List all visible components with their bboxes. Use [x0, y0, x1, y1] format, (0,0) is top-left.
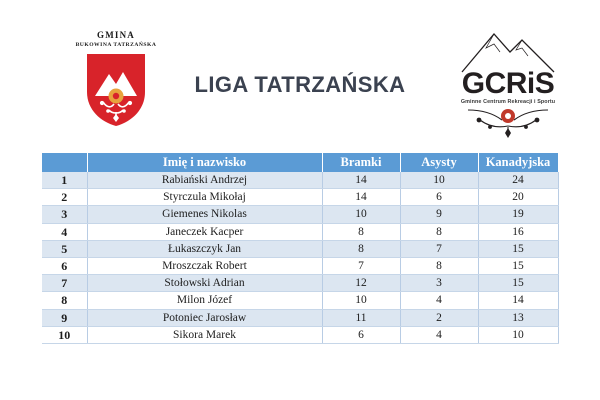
cell-assists: 10 — [400, 172, 478, 189]
cell-rank: 5 — [42, 240, 87, 257]
table-row: 10Sikora Marek6410 — [42, 326, 558, 343]
cell-assists: 2 — [400, 309, 478, 326]
cell-assists: 9 — [400, 206, 478, 223]
table-row: 7Stołowski Adrian12315 — [42, 275, 558, 292]
standings-table: Imię i nazwisko Bramki Asysty Kanadyjska… — [42, 153, 559, 344]
cell-player-name: Styrczula Mikołaj — [87, 189, 322, 206]
cell-rank: 2 — [42, 189, 87, 206]
header-banner: GMINA BUKOWINA TATRZAŃSKA — [0, 28, 600, 140]
cell-points: 10 — [478, 326, 558, 343]
table-row: 5Łukaszczyk Jan8715 — [42, 240, 558, 257]
gcris-wordmark: GCRiS — [446, 68, 570, 100]
standings-table-container: Imię i nazwisko Bramki Asysty Kanadyjska… — [42, 153, 558, 344]
cell-goals: 12 — [322, 275, 400, 292]
gcris-logo: GCRiS Gminne Centrum Rekreacji i Sportu — [446, 28, 570, 140]
cell-goals: 6 — [322, 326, 400, 343]
gcris-ornament-icon — [466, 106, 550, 145]
column-header-rank — [42, 153, 87, 172]
table-row: 6Mroszczak Robert7815 — [42, 258, 558, 275]
cell-goals: 14 — [322, 189, 400, 206]
column-header-points: Kanadyjska — [478, 153, 558, 172]
cell-assists: 4 — [400, 292, 478, 309]
cell-points: 24 — [478, 172, 558, 189]
cell-goals: 14 — [322, 172, 400, 189]
table-header-row: Imię i nazwisko Bramki Asysty Kanadyjska — [42, 153, 558, 172]
cell-assists: 3 — [400, 275, 478, 292]
cell-points: 14 — [478, 292, 558, 309]
gmina-logo-line2: BUKOWINA TATRZAŃSKA — [76, 41, 157, 50]
gmina-shield-icon — [85, 52, 147, 128]
cell-rank: 4 — [42, 223, 87, 240]
cell-points: 15 — [478, 275, 558, 292]
cell-player-name: Rabiański Andrzej — [87, 172, 322, 189]
table-row: 1Rabiański Andrzej141024 — [42, 172, 558, 189]
cell-rank: 10 — [42, 326, 87, 343]
cell-goals: 10 — [322, 206, 400, 223]
page-title: LIGA TATRZAŃSKA — [180, 72, 420, 98]
cell-points: 19 — [478, 206, 558, 223]
cell-player-name: Sikora Marek — [87, 326, 322, 343]
cell-player-name: Janeczek Kacper — [87, 223, 322, 240]
cell-goals: 11 — [322, 309, 400, 326]
column-header-assists: Asysty — [400, 153, 478, 172]
standings-table-body: 1Rabiański Andrzej1410242Styrczula Mikoł… — [42, 172, 558, 344]
gmina-logo-line1: GMINA — [97, 30, 135, 41]
table-row: 4Janeczek Kacper8816 — [42, 223, 558, 240]
standings-page: GMINA BUKOWINA TATRZAŃSKA — [0, 0, 600, 400]
cell-player-name: Stołowski Adrian — [87, 275, 322, 292]
cell-player-name: Mroszczak Robert — [87, 258, 322, 275]
cell-points: 20 — [478, 189, 558, 206]
cell-assists: 4 — [400, 326, 478, 343]
cell-points: 16 — [478, 223, 558, 240]
table-row: 2Styrczula Mikołaj14620 — [42, 189, 558, 206]
cell-goals: 8 — [322, 240, 400, 257]
cell-points: 15 — [478, 240, 558, 257]
cell-assists: 8 — [400, 223, 478, 240]
cell-goals: 7 — [322, 258, 400, 275]
cell-points: 13 — [478, 309, 558, 326]
cell-player-name: Łukaszczyk Jan — [87, 240, 322, 257]
cell-rank: 9 — [42, 309, 87, 326]
gmina-bukowina-tatrzanska-logo: GMINA BUKOWINA TATRZAŃSKA — [52, 30, 180, 138]
cell-goals: 10 — [322, 292, 400, 309]
cell-assists: 7 — [400, 240, 478, 257]
table-row: 9Potoniec Jarosław11213 — [42, 309, 558, 326]
column-header-goals: Bramki — [322, 153, 400, 172]
cell-player-name: Milon Józef — [87, 292, 322, 309]
table-row: 8Milon Józef10414 — [42, 292, 558, 309]
cell-points: 15 — [478, 258, 558, 275]
cell-rank: 1 — [42, 172, 87, 189]
cell-rank: 6 — [42, 258, 87, 275]
column-header-name: Imię i nazwisko — [87, 153, 322, 172]
cell-player-name: Potoniec Jarosław — [87, 309, 322, 326]
cell-rank: 7 — [42, 275, 87, 292]
cell-goals: 8 — [322, 223, 400, 240]
gcris-subtitle: Gminne Centrum Rekreacji i Sportu — [446, 99, 570, 105]
cell-rank: 8 — [42, 292, 87, 309]
table-row: 3Giemenes Nikolas10919 — [42, 206, 558, 223]
cell-rank: 3 — [42, 206, 87, 223]
cell-player-name: Giemenes Nikolas — [87, 206, 322, 223]
cell-assists: 8 — [400, 258, 478, 275]
cell-assists: 6 — [400, 189, 478, 206]
